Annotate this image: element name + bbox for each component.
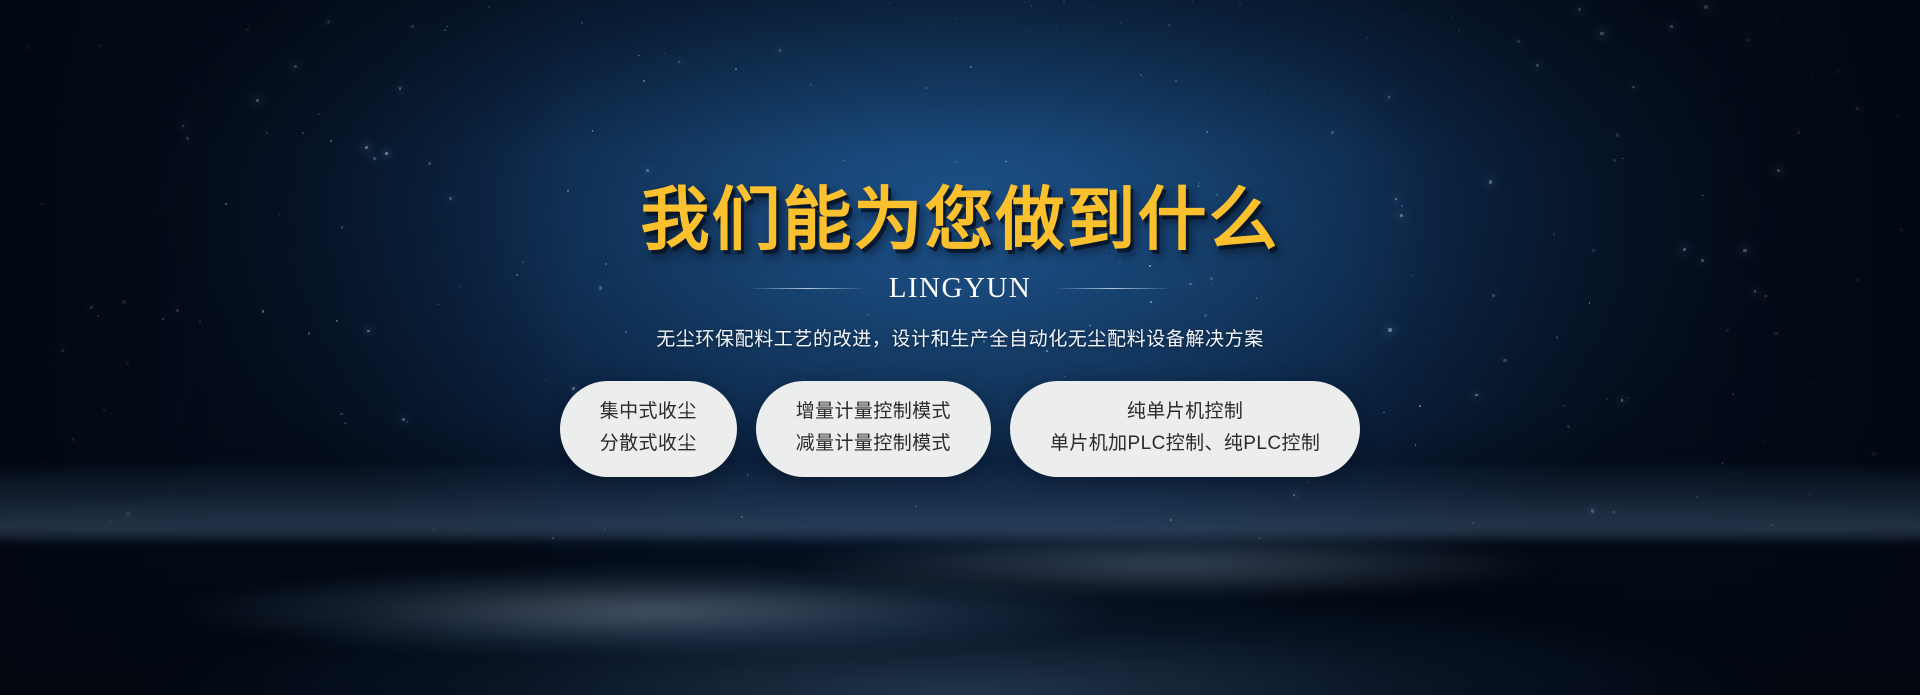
pill-line-secondary: 减量计量控制模式 [796,433,951,455]
pill-line-secondary: 单片机加PLC控制、纯PLC控制 [1050,433,1320,455]
feature-pill-control-system[interactable]: 纯单片机控制 单片机加PLC控制、纯PLC控制 [1010,381,1360,477]
feature-pill-group: 集中式收尘 分散式收尘 增量计量控制模式 减量计量控制模式 纯单片机控制 单片机… [560,381,1361,477]
banner-subtitle: 无尘环保配料工艺的改进，设计和生产全自动化无尘配料设备解决方案 [656,324,1264,351]
pill-line-primary: 集中式收尘 [600,401,697,423]
feature-pill-dust-collection[interactable]: 集中式收尘 分散式收尘 [560,381,737,477]
hero-banner: 我们能为您做到什么 LINGYUN 无尘环保配料工艺的改进，设计和生产全自动化无… [0,0,1920,695]
brand-rule-left [751,288,863,289]
feature-pill-metering-mode[interactable]: 增量计量控制模式 减量计量控制模式 [756,381,991,477]
brand-row: LINGYUN [751,272,1170,305]
banner-headline: 我们能为您做到什么 [641,186,1280,255]
brand-name: LINGYUN [889,272,1032,305]
pill-line-primary: 增量计量控制模式 [796,401,951,423]
pill-line-primary: 纯单片机控制 [1127,401,1243,423]
pill-line-secondary: 分散式收尘 [600,433,697,455]
banner-content: 我们能为您做到什么 LINGYUN 无尘环保配料工艺的改进，设计和生产全自动化无… [0,0,1920,695]
brand-rule-right [1057,288,1169,289]
